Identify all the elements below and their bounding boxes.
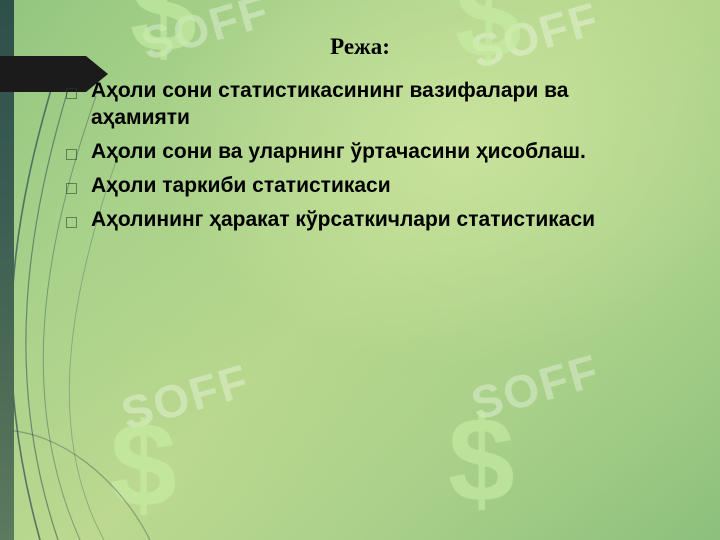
bullet-list: Аҳоли сони статистикасининг вазифалари в… [66, 78, 666, 240]
watermark-word: SOFF [465, 343, 605, 431]
list-item-label: Аҳоли сони ва уларнинг ўртачасини ҳисобл… [91, 139, 666, 166]
watermark-word: SOFF [115, 353, 255, 441]
square-bullet-icon [66, 183, 77, 194]
watermark-dollar-glyph: $ [110, 405, 179, 525]
slide-title: Режа: [0, 34, 720, 60]
list-item-label: Аҳоли сони статистикасининг вазифалари в… [91, 78, 666, 132]
list-item: Аҳоли таркиби статистикаси [66, 173, 666, 200]
watermark-dollar-glyph: $ [448, 400, 517, 520]
list-item: Аҳоли сони статистикасининг вазифалари в… [66, 78, 666, 132]
left-edge-strip [0, 0, 14, 540]
list-item-label: Аҳолининг ҳаракат кўрсаткичлари статисти… [91, 207, 666, 234]
square-bullet-icon [66, 217, 77, 228]
list-item: Аҳолининг ҳаракат кўрсаткичлари статисти… [66, 207, 666, 234]
square-bullet-icon [66, 149, 77, 160]
list-item: Аҳоли сони ва уларнинг ўртачасини ҳисобл… [66, 139, 666, 166]
square-bullet-icon [66, 88, 77, 99]
list-item-label: Аҳоли таркиби статистикаси [91, 173, 666, 200]
slide: SOFF SOFF SOFF SOFF $ $ $ $ Режа: Аҳоли … [0, 0, 720, 540]
